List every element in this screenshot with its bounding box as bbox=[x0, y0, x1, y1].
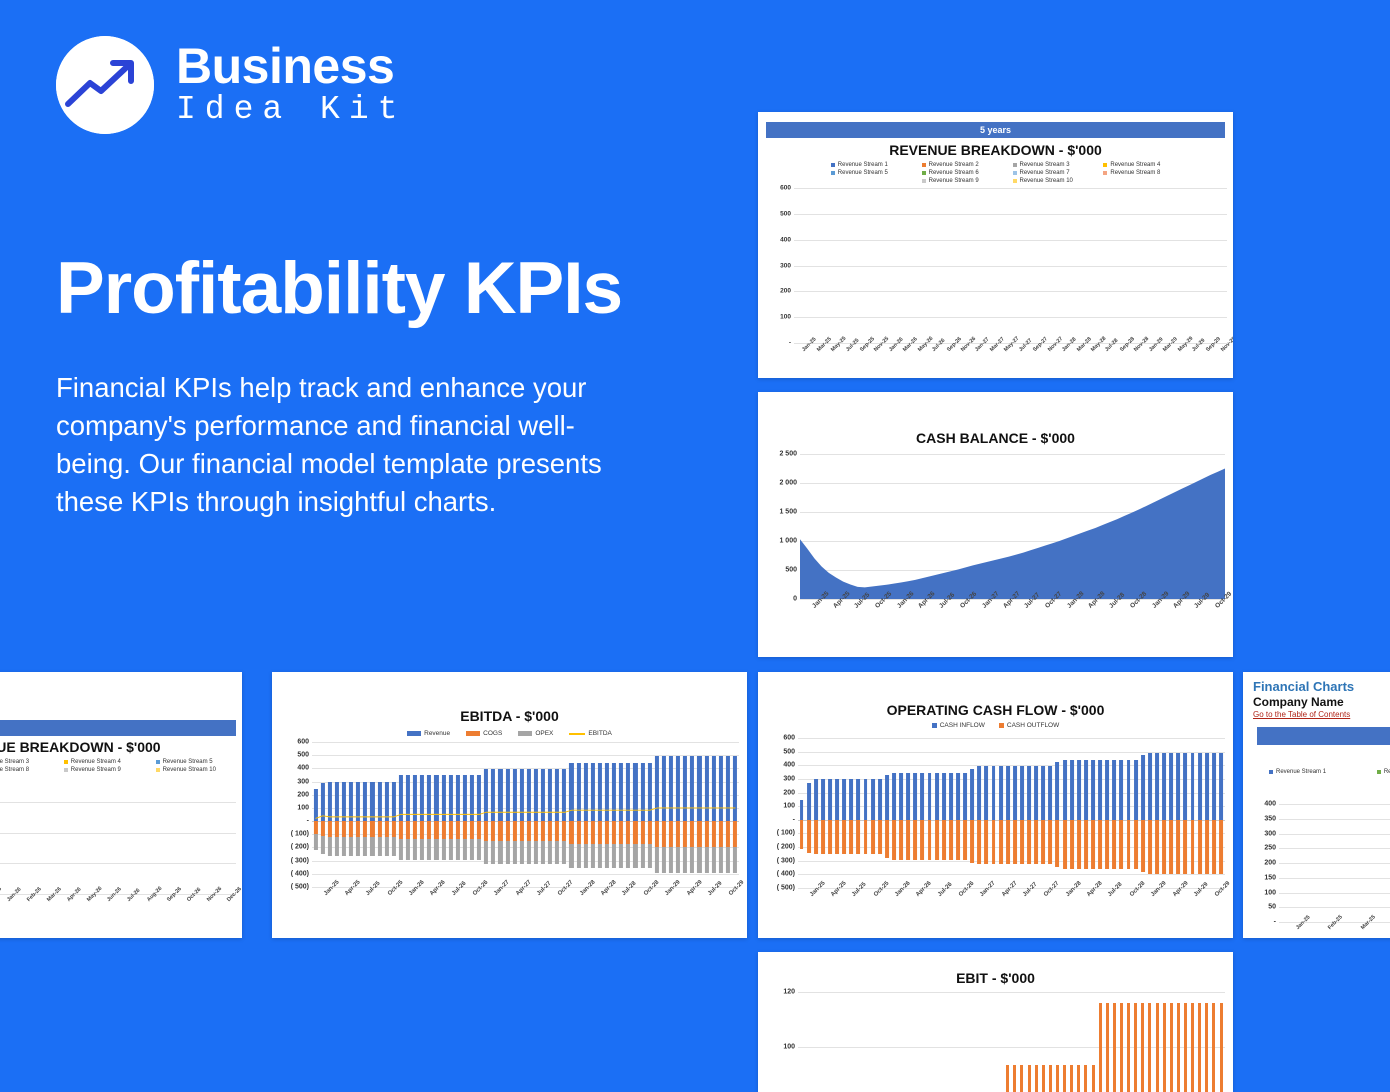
legend-label: Revenue Stream 9 bbox=[929, 178, 979, 184]
bar-slot bbox=[830, 188, 837, 343]
x-axis-tick: Jan-27 bbox=[969, 891, 990, 927]
x-axis-tick: Sep-26 bbox=[156, 896, 176, 928]
bar bbox=[942, 773, 946, 820]
bar-slot bbox=[1376, 804, 1390, 922]
bar bbox=[963, 773, 967, 820]
chart-title-ebit: EBIT - $'000 bbox=[758, 970, 1233, 986]
y-axis-tick: 100 bbox=[783, 1044, 795, 1051]
bar-slot bbox=[869, 992, 876, 1092]
table-of-contents-link[interactable]: Go to the Table of Contents bbox=[1253, 710, 1390, 719]
legend-label: Revenue Stream 6 bbox=[929, 170, 979, 176]
bar bbox=[1063, 760, 1067, 820]
legend-swatch bbox=[64, 760, 68, 764]
bar-slot bbox=[1097, 188, 1104, 343]
bar bbox=[1070, 820, 1074, 869]
bar-slot bbox=[996, 188, 1003, 343]
bar-slot bbox=[1189, 992, 1196, 1092]
bar-slot bbox=[1054, 188, 1061, 343]
legend-item: Revenue Stream 4 bbox=[1103, 162, 1180, 168]
legend-item: Revenue Stream 2 bbox=[922, 162, 999, 168]
bar bbox=[1035, 1065, 1038, 1092]
legend-label: Revenue Stream 8 bbox=[0, 767, 29, 773]
x-axis-tick: Jul-26 bbox=[928, 602, 949, 642]
x-axis-tick: Jan-25 bbox=[800, 602, 821, 642]
bar-slot bbox=[873, 188, 880, 343]
bar-slot bbox=[960, 188, 967, 343]
bar bbox=[949, 773, 953, 820]
bar-slot bbox=[1082, 992, 1089, 1092]
x-axis-tick: Oct-26 bbox=[947, 891, 968, 927]
bar-slot bbox=[919, 738, 926, 888]
x-axis-tick: Oct-25 bbox=[862, 891, 883, 927]
bar-slot bbox=[1018, 188, 1025, 343]
bar-slot bbox=[1061, 738, 1068, 888]
y-axis-tick: 100 bbox=[780, 314, 791, 321]
bar-slot bbox=[1133, 188, 1140, 343]
chart-legend-sheet: Revenue Stream 1Revenue Stream 6 bbox=[1243, 745, 1390, 775]
x-axis-labels-cash-balance: Jan-25Apr-25Jul-25Oct-25Jan-26Apr-26Jul-… bbox=[800, 602, 1225, 642]
bar bbox=[899, 820, 903, 860]
bar-slot bbox=[1189, 738, 1196, 888]
bar bbox=[1176, 820, 1180, 874]
bar-slot bbox=[976, 738, 983, 888]
legend-item: Revenue Stream 9 bbox=[64, 767, 144, 773]
chart-panel-ebit[interactable]: EBIT - $'000 12010080 bbox=[758, 952, 1233, 1092]
x-axis-tick: Jan-28 bbox=[1054, 346, 1068, 376]
bar-slot bbox=[890, 992, 897, 1092]
legend-item: Revenue Stream 7 bbox=[1013, 170, 1090, 176]
bar-slot bbox=[997, 992, 1004, 1092]
bar-slot bbox=[1111, 992, 1118, 1092]
y-axis-tick: 350 bbox=[1264, 815, 1276, 822]
x-axis-tick: Apr-25 bbox=[333, 890, 354, 926]
bar-slot bbox=[1279, 804, 1311, 922]
bar bbox=[1127, 820, 1131, 869]
bar-slot bbox=[974, 188, 981, 343]
x-axis-tick: Jul-26 bbox=[924, 346, 938, 376]
y-axis-tick: - bbox=[307, 818, 309, 825]
bar-slot bbox=[855, 738, 862, 888]
bar bbox=[1198, 820, 1202, 874]
y-axis-tick: 600 bbox=[780, 185, 791, 192]
plot-area-sheet: 40035030025020015010050- bbox=[1243, 804, 1390, 922]
y-axis-tick: ( 100) bbox=[291, 831, 309, 838]
bar-slot bbox=[1039, 188, 1046, 343]
bar bbox=[892, 820, 896, 860]
bar-slot bbox=[156, 802, 176, 894]
y-axis-labels: 12010080 bbox=[758, 992, 798, 1092]
bar bbox=[977, 766, 981, 820]
bar-slot bbox=[823, 188, 830, 343]
bar-slot bbox=[1203, 738, 1210, 888]
bar-slot bbox=[216, 802, 236, 894]
bar-series bbox=[1279, 804, 1390, 922]
bar-slot bbox=[1068, 738, 1075, 888]
x-axis-tick: Apr-26 bbox=[56, 896, 76, 928]
x-axis-tick: Apr-29 bbox=[675, 890, 696, 926]
bar bbox=[1063, 1065, 1066, 1092]
y-axis-tick: ( 400) bbox=[777, 871, 795, 878]
x-axis-tick: Apr-26 bbox=[906, 602, 927, 642]
chart-legend-revenue-streams-24m: Revenue Stream 3Revenue Stream 4Revenue … bbox=[0, 755, 242, 773]
legend-swatch bbox=[1013, 179, 1017, 183]
bar-slot bbox=[1146, 992, 1153, 1092]
legend-item: Revenue Stream 8 bbox=[1103, 170, 1180, 176]
bar bbox=[1013, 766, 1017, 820]
y-axis-tick: 0 bbox=[793, 596, 797, 603]
bar bbox=[1027, 820, 1031, 864]
bar bbox=[1141, 820, 1145, 872]
bar bbox=[1091, 820, 1095, 869]
bar bbox=[1177, 1003, 1180, 1092]
bar-slot bbox=[826, 738, 833, 888]
y-axis-tick: 200 bbox=[783, 789, 795, 796]
x-axis-tick: Jan-26 bbox=[885, 602, 906, 642]
grid-area bbox=[798, 738, 1225, 888]
bar bbox=[1220, 1003, 1223, 1092]
x-axis-tick: Aug-26 bbox=[136, 896, 156, 928]
legend-swatch bbox=[922, 179, 926, 183]
bar-slot bbox=[898, 992, 905, 1092]
legend-label: Revenue Stream 3 bbox=[0, 759, 29, 765]
bar bbox=[1127, 1003, 1130, 1092]
legend-item: COGS bbox=[466, 730, 502, 737]
bar bbox=[920, 820, 924, 860]
bar bbox=[913, 773, 917, 820]
bar bbox=[1184, 1003, 1187, 1092]
bar bbox=[1141, 755, 1145, 819]
legend-swatch bbox=[407, 731, 421, 736]
bar-slot bbox=[819, 738, 826, 888]
bar bbox=[1219, 753, 1223, 820]
x-axis-tick: Oct-29 bbox=[1204, 891, 1225, 927]
legend-label: Revenue Stream 4 bbox=[1110, 162, 1160, 168]
grid-area bbox=[798, 992, 1225, 1092]
x-axis-tick: Apr-25 bbox=[819, 891, 840, 927]
plot-area-cash-balance: 2 5002 0001 5001 0005000 bbox=[758, 454, 1225, 599]
x-axis-tick: Oct-27 bbox=[1034, 602, 1055, 642]
legend-swatch bbox=[1103, 163, 1107, 167]
plot-area-revenue-breakdown: 600500400300200100- bbox=[758, 188, 1227, 343]
bar bbox=[1148, 820, 1152, 874]
bar bbox=[1113, 1003, 1116, 1092]
bar-slot bbox=[16, 802, 36, 894]
y-axis-tick: ( 100) bbox=[777, 830, 795, 837]
bar-slot bbox=[845, 188, 852, 343]
bar bbox=[1148, 1003, 1151, 1092]
x-axis-tick: Mar-27 bbox=[982, 346, 996, 376]
bar-slot bbox=[837, 188, 844, 343]
bar bbox=[984, 766, 988, 820]
bar bbox=[856, 820, 860, 854]
bar bbox=[828, 820, 832, 854]
bar bbox=[835, 779, 839, 820]
bar bbox=[942, 820, 946, 860]
y-axis-tick: 1 500 bbox=[779, 509, 797, 516]
y-axis-tick: 300 bbox=[780, 262, 791, 269]
x-axis-tick: Jul-29 bbox=[1184, 346, 1198, 376]
bar-slot bbox=[1112, 188, 1119, 343]
legend-item: Revenue Stream 4 bbox=[64, 759, 144, 765]
bar bbox=[1205, 753, 1209, 820]
band-label-5-years: 5 years bbox=[766, 122, 1225, 138]
y-axis-tick: - bbox=[793, 816, 795, 823]
bar-slot bbox=[1203, 992, 1210, 1092]
bar bbox=[1155, 753, 1159, 820]
bar-slot bbox=[805, 738, 812, 888]
bar-series bbox=[798, 992, 1225, 1092]
x-axis-tick: May-26 bbox=[76, 896, 96, 928]
bar bbox=[878, 779, 882, 820]
bar-slot bbox=[954, 992, 961, 1092]
chart-panel-cash-balance[interactable]: CASH BALANCE - $'000 2 5002 0001 5001 00… bbox=[758, 392, 1233, 657]
bar-slot bbox=[1089, 738, 1096, 888]
legend-item: Revenue bbox=[407, 730, 450, 737]
bar-slot bbox=[883, 738, 890, 888]
x-axis-tick: Nov-28 bbox=[1126, 346, 1140, 376]
bar bbox=[1049, 1065, 1052, 1092]
y-axis-tick: 150 bbox=[1264, 874, 1276, 881]
bar bbox=[1169, 820, 1173, 874]
bar-slot bbox=[1198, 188, 1205, 343]
legend-swatch bbox=[922, 163, 926, 167]
bar bbox=[956, 820, 960, 860]
chart-panel-ebitda[interactable]: EBITDA - $'000 RevenueCOGSOPEXEBITDA 600… bbox=[272, 672, 747, 938]
bar-slot bbox=[834, 738, 841, 888]
bar bbox=[800, 800, 804, 820]
bar bbox=[1212, 753, 1216, 820]
x-axis-labels-sheet: Jan-25Feb-25Mar-25Apr-25May-25Jun-25 bbox=[1279, 924, 1390, 938]
y-axis-tick: - bbox=[1274, 919, 1276, 926]
bar-slot bbox=[1175, 738, 1182, 888]
bar bbox=[849, 820, 853, 854]
bar bbox=[1184, 820, 1188, 874]
bar bbox=[842, 820, 846, 854]
x-axis-tick: Jan-25 bbox=[798, 891, 819, 927]
bar bbox=[1134, 760, 1138, 820]
bar-slot bbox=[116, 802, 136, 894]
bar-slot bbox=[905, 738, 912, 888]
legend-item: Revenue Stream 10 bbox=[1013, 178, 1090, 184]
x-axis-tick: Nov-25 bbox=[866, 346, 880, 376]
bar-slot bbox=[866, 188, 873, 343]
bar-slot bbox=[848, 738, 855, 888]
x-axis-tick: Oct-28 bbox=[1119, 602, 1140, 642]
legend-item: Revenue Stream 1 bbox=[831, 162, 908, 168]
x-axis-tick: Apr-27 bbox=[504, 890, 525, 926]
bar-slot bbox=[1011, 738, 1018, 888]
chart-title-revenue-breakdown-24m: REVENUE BREAKDOWN - $'000 bbox=[0, 739, 242, 755]
bar bbox=[871, 820, 875, 854]
legend-label: Revenue Stream 10 bbox=[163, 767, 216, 773]
x-axis-tick: May-25 bbox=[823, 346, 837, 376]
bar-series bbox=[798, 738, 1225, 888]
bar bbox=[1170, 1003, 1173, 1092]
x-axis-tick: Jan-27 bbox=[967, 346, 981, 376]
bar bbox=[821, 779, 825, 820]
x-axis-tick: Jan-26 bbox=[883, 891, 904, 927]
bar-slot bbox=[1089, 992, 1096, 1092]
bar-slot bbox=[1004, 738, 1011, 888]
bar-slot bbox=[794, 188, 801, 343]
bar-slot bbox=[801, 188, 808, 343]
x-axis-tick: Jan-25 bbox=[794, 346, 808, 376]
grid-area bbox=[794, 188, 1227, 343]
bar bbox=[1156, 1003, 1159, 1092]
grid-area bbox=[1279, 804, 1390, 922]
bar bbox=[1077, 760, 1081, 820]
x-axis-tick: Jan-29 bbox=[654, 890, 675, 926]
x-axis-tick: Mar-25 bbox=[1344, 924, 1376, 938]
bar-slot bbox=[1068, 188, 1075, 343]
y-axis-tick: 100 bbox=[297, 804, 309, 811]
y-axis-tick: ( 300) bbox=[777, 857, 795, 864]
legend-swatch bbox=[1377, 770, 1381, 774]
x-axis-tick: Mar-29 bbox=[1155, 346, 1169, 376]
y-axis-tick: 100 bbox=[1264, 889, 1276, 896]
bar bbox=[1099, 1003, 1102, 1092]
x-axis-tick: May-28 bbox=[1083, 346, 1097, 376]
chart-panel-revenue-breakdown-5y[interactable]: 5 years REVENUE BREAKDOWN - $'000 Revenu… bbox=[758, 112, 1233, 378]
y-axis-tick: ( 200) bbox=[777, 844, 795, 851]
bar-slot bbox=[876, 738, 883, 888]
bar bbox=[1120, 1003, 1123, 1092]
bar-slot bbox=[969, 992, 976, 1092]
bar bbox=[928, 773, 932, 820]
bar-slot bbox=[1162, 188, 1169, 343]
bar-slot bbox=[902, 188, 909, 343]
bar-slot bbox=[1217, 738, 1224, 888]
legend-label: Revenue Stream 3 bbox=[1020, 162, 1070, 168]
bar-slot bbox=[953, 188, 960, 343]
x-axis-tick: Dec-26 bbox=[216, 896, 236, 928]
bar bbox=[856, 779, 860, 820]
bar bbox=[1112, 760, 1116, 820]
bar bbox=[1056, 1065, 1059, 1092]
bar-slot bbox=[989, 188, 996, 343]
bar-slot bbox=[1210, 992, 1217, 1092]
bar bbox=[1205, 820, 1209, 874]
y-axis-tick: ( 300) bbox=[291, 857, 309, 864]
legend-label: EBITDA bbox=[588, 730, 611, 737]
bar bbox=[1020, 1065, 1023, 1092]
bar-slot bbox=[1104, 992, 1111, 1092]
bar-slot bbox=[1075, 738, 1082, 888]
legend-swatch bbox=[466, 731, 480, 736]
bar-slot bbox=[1018, 992, 1025, 1092]
bar-slot bbox=[805, 992, 812, 1092]
bar-slot bbox=[76, 802, 96, 894]
bar-slot bbox=[1011, 992, 1018, 1092]
bar-slot bbox=[1104, 738, 1111, 888]
y-axis-labels: 2 5002 0001 5001 0005000 bbox=[758, 454, 800, 599]
x-axis-tick: Sep-26 bbox=[938, 346, 952, 376]
bar-slot bbox=[841, 738, 848, 888]
bar-slot bbox=[1033, 738, 1040, 888]
y-axis-tick: 300 bbox=[1264, 830, 1276, 837]
bar bbox=[1134, 1003, 1137, 1092]
bar bbox=[1198, 753, 1202, 820]
chart-panel-financial-charts-sheet[interactable]: Financial Charts Company Name Go to the … bbox=[1243, 672, 1390, 938]
bar-slot bbox=[1169, 188, 1176, 343]
x-axis-tick: Apr-28 bbox=[1076, 602, 1097, 642]
bar bbox=[1162, 753, 1166, 820]
bar-slot bbox=[1090, 188, 1097, 343]
bar-slot bbox=[876, 992, 883, 1092]
y-axis-tick: 400 bbox=[297, 765, 309, 772]
x-axis-tick: Jul-29 bbox=[696, 890, 717, 926]
x-axis-tick: Jul-25 bbox=[843, 602, 864, 642]
bar-slot bbox=[1040, 992, 1047, 1092]
bar bbox=[956, 773, 960, 820]
legend-label: Revenue Stream 6 bbox=[1384, 769, 1390, 775]
bar bbox=[999, 766, 1003, 820]
y-axis-tick: 250 bbox=[1264, 845, 1276, 852]
bar-slot bbox=[0, 802, 16, 894]
x-axis-tick: Jan-27 bbox=[970, 602, 991, 642]
bar-slot bbox=[859, 188, 866, 343]
bar-slot bbox=[869, 738, 876, 888]
x-axis-tick: May-29 bbox=[1169, 346, 1183, 376]
y-axis-tick: 2 000 bbox=[779, 480, 797, 487]
legend-swatch bbox=[64, 768, 68, 772]
legend-swatch bbox=[1269, 770, 1273, 774]
y-axis-labels: 40035030025020015010050- bbox=[1243, 804, 1279, 922]
plot-area-operating-cash-flow: 600500400300200100-( 100)( 200)( 300)( 4… bbox=[758, 738, 1225, 888]
x-axis-tick: Jul-27 bbox=[1011, 346, 1025, 376]
bar-slot bbox=[883, 992, 890, 1092]
bar-slot bbox=[912, 992, 919, 1092]
bar-slot bbox=[1111, 738, 1118, 888]
bar bbox=[1084, 1065, 1087, 1092]
brand-logo: Business Idea Kit bbox=[56, 36, 696, 134]
chart-panel-operating-cash-flow[interactable]: OPERATING CASH FLOW - $'000 CASH INFLOWC… bbox=[758, 672, 1233, 938]
bar-slot bbox=[36, 802, 56, 894]
legend-item: Revenue Stream 8 bbox=[0, 767, 52, 773]
bar-slot bbox=[933, 738, 940, 888]
bar bbox=[1070, 760, 1074, 820]
bar-slot bbox=[798, 738, 805, 888]
bar bbox=[1191, 753, 1195, 820]
x-axis-tick: Jan-29 bbox=[1141, 346, 1155, 376]
x-axis-tick: Oct-25 bbox=[864, 602, 885, 642]
bar-slot bbox=[1075, 992, 1082, 1092]
bar-slot bbox=[933, 992, 940, 1092]
x-axis-tick: Jul-28 bbox=[1098, 602, 1119, 642]
bar-slot bbox=[947, 738, 954, 888]
x-axis-tick: Jul-26 bbox=[926, 891, 947, 927]
bar bbox=[1013, 820, 1017, 864]
bar-series bbox=[794, 188, 1227, 343]
bar bbox=[1091, 760, 1095, 820]
legend-label: Revenue Stream 1 bbox=[1276, 769, 1326, 775]
bar-slot bbox=[1146, 738, 1153, 888]
legend-label: Revenue Stream 5 bbox=[838, 170, 888, 176]
bar bbox=[928, 820, 932, 860]
chart-panel-revenue-breakdown-24m[interactable]: 24 months REVENUE BREAKDOWN - $'000 Reve… bbox=[0, 672, 242, 938]
bar bbox=[864, 820, 868, 854]
bar bbox=[970, 769, 974, 820]
y-axis-tick: ( 500) bbox=[291, 884, 309, 891]
x-axis-tick: Apr-25 bbox=[1376, 924, 1390, 938]
x-axis-tick: Jan-25 bbox=[1279, 924, 1311, 938]
bar-slot bbox=[1161, 992, 1168, 1092]
x-axis-tick: Jul-26 bbox=[440, 890, 461, 926]
bar bbox=[828, 779, 832, 820]
bar bbox=[1163, 1003, 1166, 1092]
bar-slot bbox=[819, 992, 826, 1092]
bar-slot bbox=[997, 738, 1004, 888]
